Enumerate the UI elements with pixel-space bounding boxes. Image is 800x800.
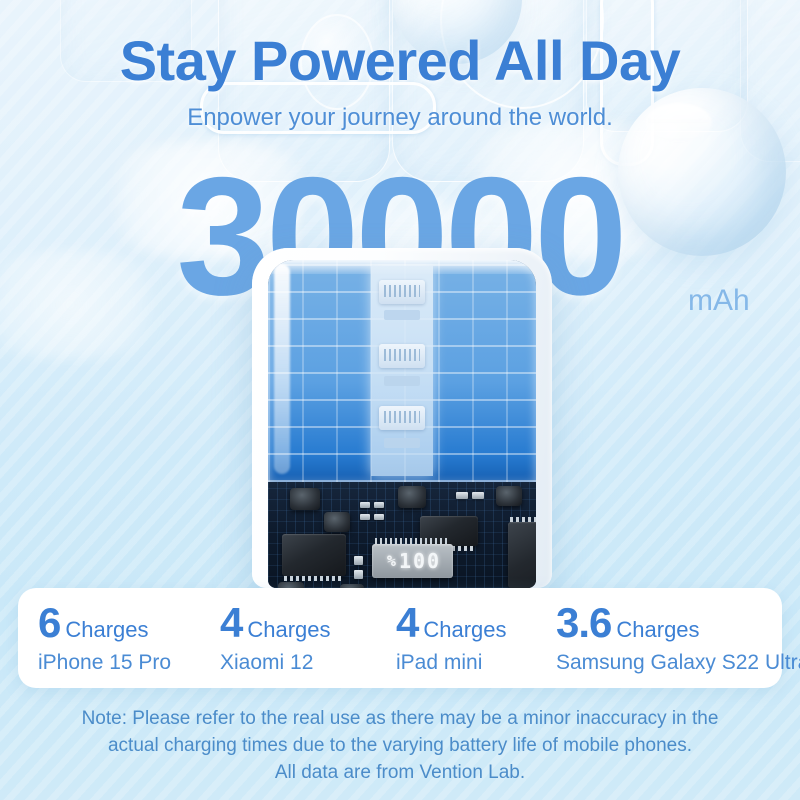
chip-pins [510,517,536,522]
charge-stats-card: 6Charges iPhone 15 Pro 4Charges Xiaomi 1… [18,588,782,688]
stat-unit: Charges [65,617,148,642]
led-display-pins [375,538,450,544]
pcb-resistor [354,570,363,579]
product-marketing-poster: Stay Powered All Day Enpower your journe… [0,0,800,800]
stat-item: 4Charges Xiaomi 12 [200,602,376,675]
power-bank-product-image: % 100 [252,248,552,588]
capacity-unit: mAh [688,284,750,318]
stat-item: 4Charges iPad mini [376,602,536,675]
stat-count: 3.6 [556,599,611,646]
led-battery-display: % 100 [372,544,453,578]
pcb-resistor [360,502,370,508]
stat-item: 3.6Charges Samsung Galaxy S22 Ultra [536,602,800,675]
stat-count: 4 [396,599,418,646]
led-percent-value: 100 [399,549,441,573]
battery-cell-stack [268,260,536,482]
connector-chip [379,406,425,430]
internal-connector-column [371,266,433,476]
led-percent-symbol: % [387,552,396,570]
connector-pad [384,376,420,386]
stat-headline: 4Charges [396,602,536,644]
stat-count: 6 [38,599,60,646]
stat-device-name: iPad mini [396,651,536,675]
pcb-capacitor [324,512,350,532]
pcb-chip [282,534,346,576]
connector-chip [379,280,425,304]
stat-unit: Charges [616,617,699,642]
disclaimer-note: Note: Please refer to the real use as th… [0,706,800,787]
stat-device-name: Samsung Galaxy S22 Ultra [556,651,800,675]
stat-unit: Charges [423,617,506,642]
power-bank-interior: % 100 [268,260,536,588]
stat-headline: 6Charges [38,602,200,644]
pcb-capacitor [290,488,320,510]
pcb-resistor [456,492,468,499]
circuit-board: % 100 [268,482,536,588]
battery-stack-sheen [274,264,290,474]
stat-count: 4 [220,599,242,646]
pcb-resistor [360,514,370,520]
headline: Stay Powered All Day [0,28,800,93]
stat-device-name: iPhone 15 Pro [38,651,200,675]
disclaimer-line-3: All data are from Vention Lab. [0,760,800,787]
disclaimer-line-1: Note: Please refer to the real use as th… [0,706,800,733]
pcb-resistor [374,514,384,520]
stat-item: 6Charges iPhone 15 Pro [18,602,200,675]
stat-headline: 3.6Charges [556,602,800,644]
stat-device-name: Xiaomi 12 [220,651,376,675]
connector-pad [384,438,420,448]
stat-unit: Charges [247,617,330,642]
pcb-resistor [374,502,384,508]
stat-headline: 4Charges [220,602,376,644]
pcb-resistor [472,492,484,499]
pcb-capacitor [496,486,522,506]
connector-pad [384,310,420,320]
pcb-resistor [354,556,363,565]
chip-pins [284,576,344,581]
disclaimer-line-2: actual charging times due to the varying… [0,733,800,760]
connector-chip [379,344,425,368]
pcb-capacitor [398,486,426,508]
pcb-chip [508,522,536,588]
subheadline: Enpower your journey around the world. [0,104,800,132]
